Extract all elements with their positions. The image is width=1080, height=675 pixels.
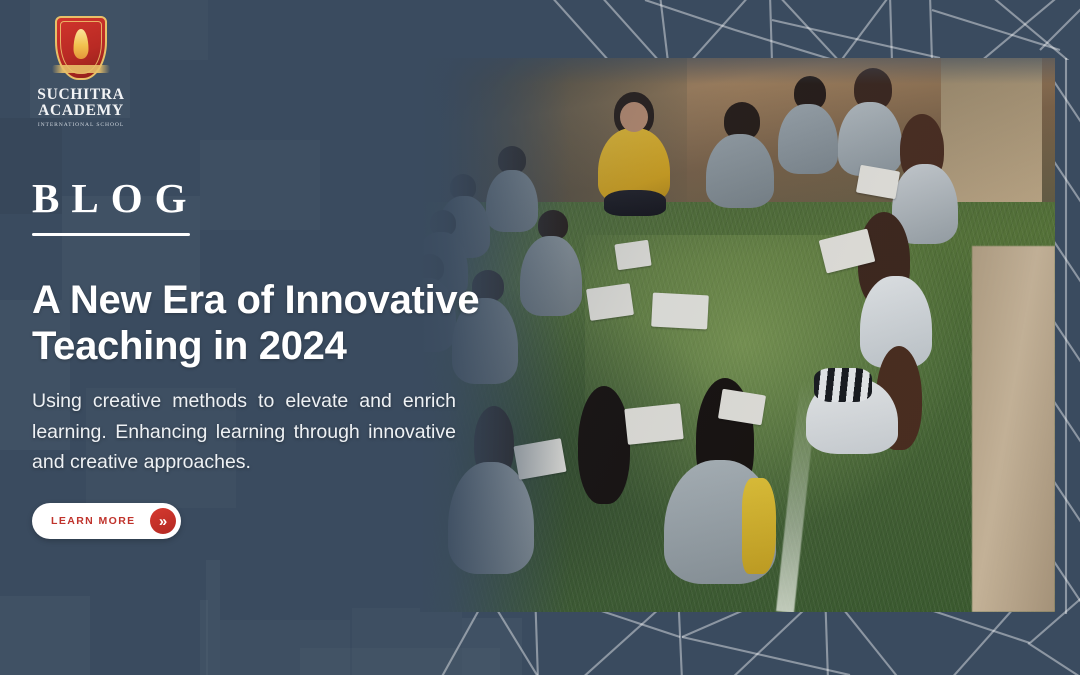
hero-kicker: BLOG (32, 178, 198, 219)
brand-tagline: INTERNATIONAL SCHOOL (38, 122, 124, 128)
hero-headline: A New Era of Innovative Teaching in 2024 (32, 278, 502, 369)
learn-more-label: LEARN MORE (51, 515, 136, 527)
mesh-pattern-top (540, 0, 1080, 60)
brand-logo[interactable]: SUCHITRA ACADEMY INTERNATIONAL SCHOOL (33, 16, 129, 128)
hero-photo (420, 58, 1055, 612)
brand-name-line1: SUCHITRA (37, 87, 124, 103)
brand-name-line2: ACADEMY (37, 103, 124, 119)
brand-name: SUCHITRA ACADEMY (37, 87, 124, 119)
hero-body-text: Using creative methods to elevate and en… (32, 386, 456, 477)
double-chevron-right-icon: » (150, 508, 176, 534)
shield-flame-crest-icon (55, 16, 107, 80)
hero-content: BLOG A New Era of Innovative Teaching in… (32, 178, 502, 539)
blog-hero-banner: SUCHITRA ACADEMY INTERNATIONAL SCHOOL BL… (0, 0, 1080, 675)
learn-more-button[interactable]: LEARN MORE » (32, 503, 181, 539)
hero-kicker-underline (32, 233, 190, 236)
